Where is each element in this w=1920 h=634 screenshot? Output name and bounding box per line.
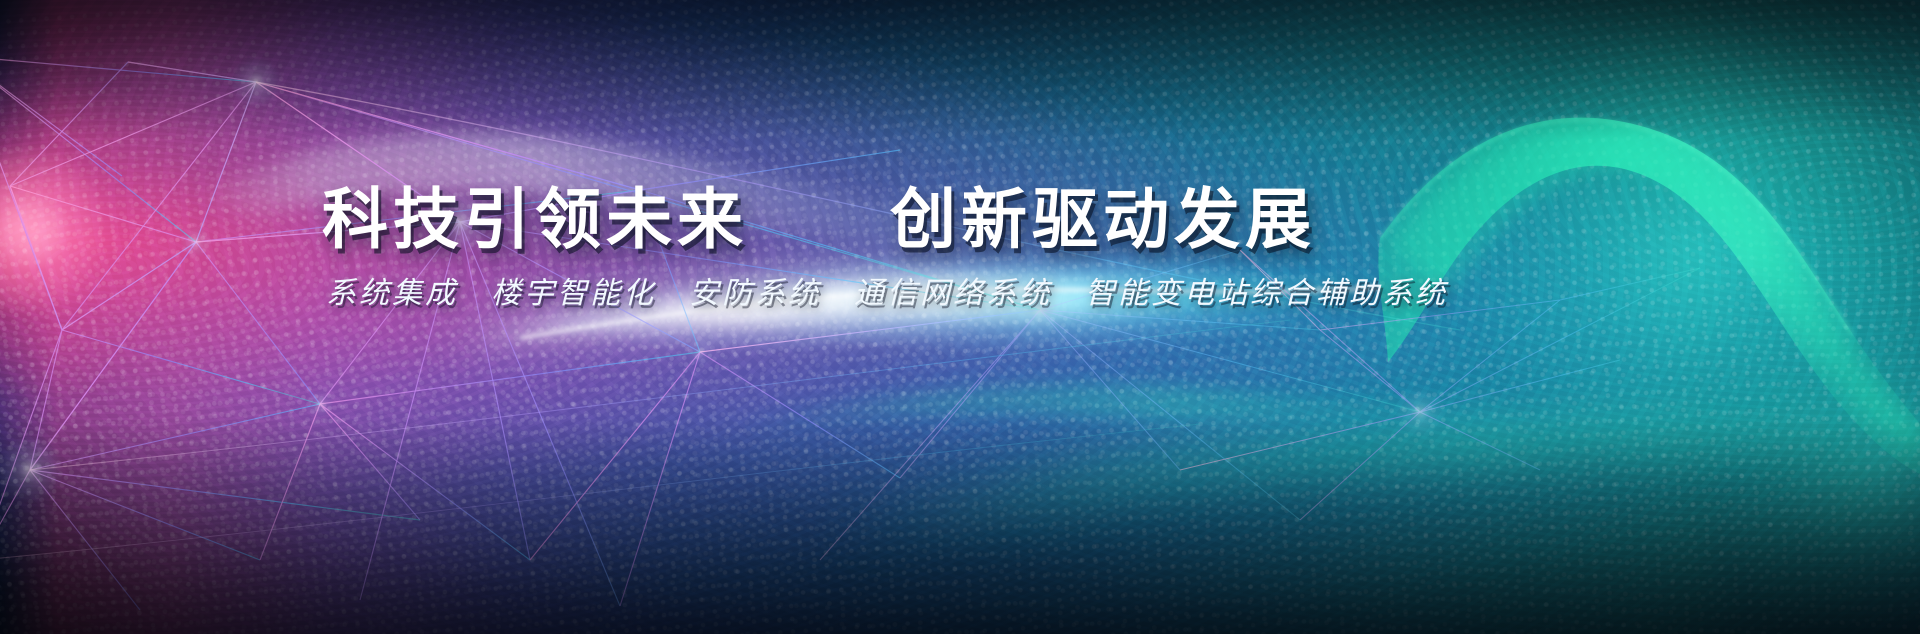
banner-headline: 科技引领未来 创新驱动发展 [322,186,1920,254]
banner-subheadline: 系统集成 楼宇智能化 安防系统 通信网络系统 智能变电站综合辅助系统 [326,276,1920,312]
banner-copy: 科技引领未来 创新驱动发展 系统集成 楼宇智能化 安防系统 通信网络系统 智能变… [0,0,1920,634]
tech-banner: 科技引领未来 创新驱动发展 系统集成 楼宇智能化 安防系统 通信网络系统 智能变… [0,0,1920,634]
